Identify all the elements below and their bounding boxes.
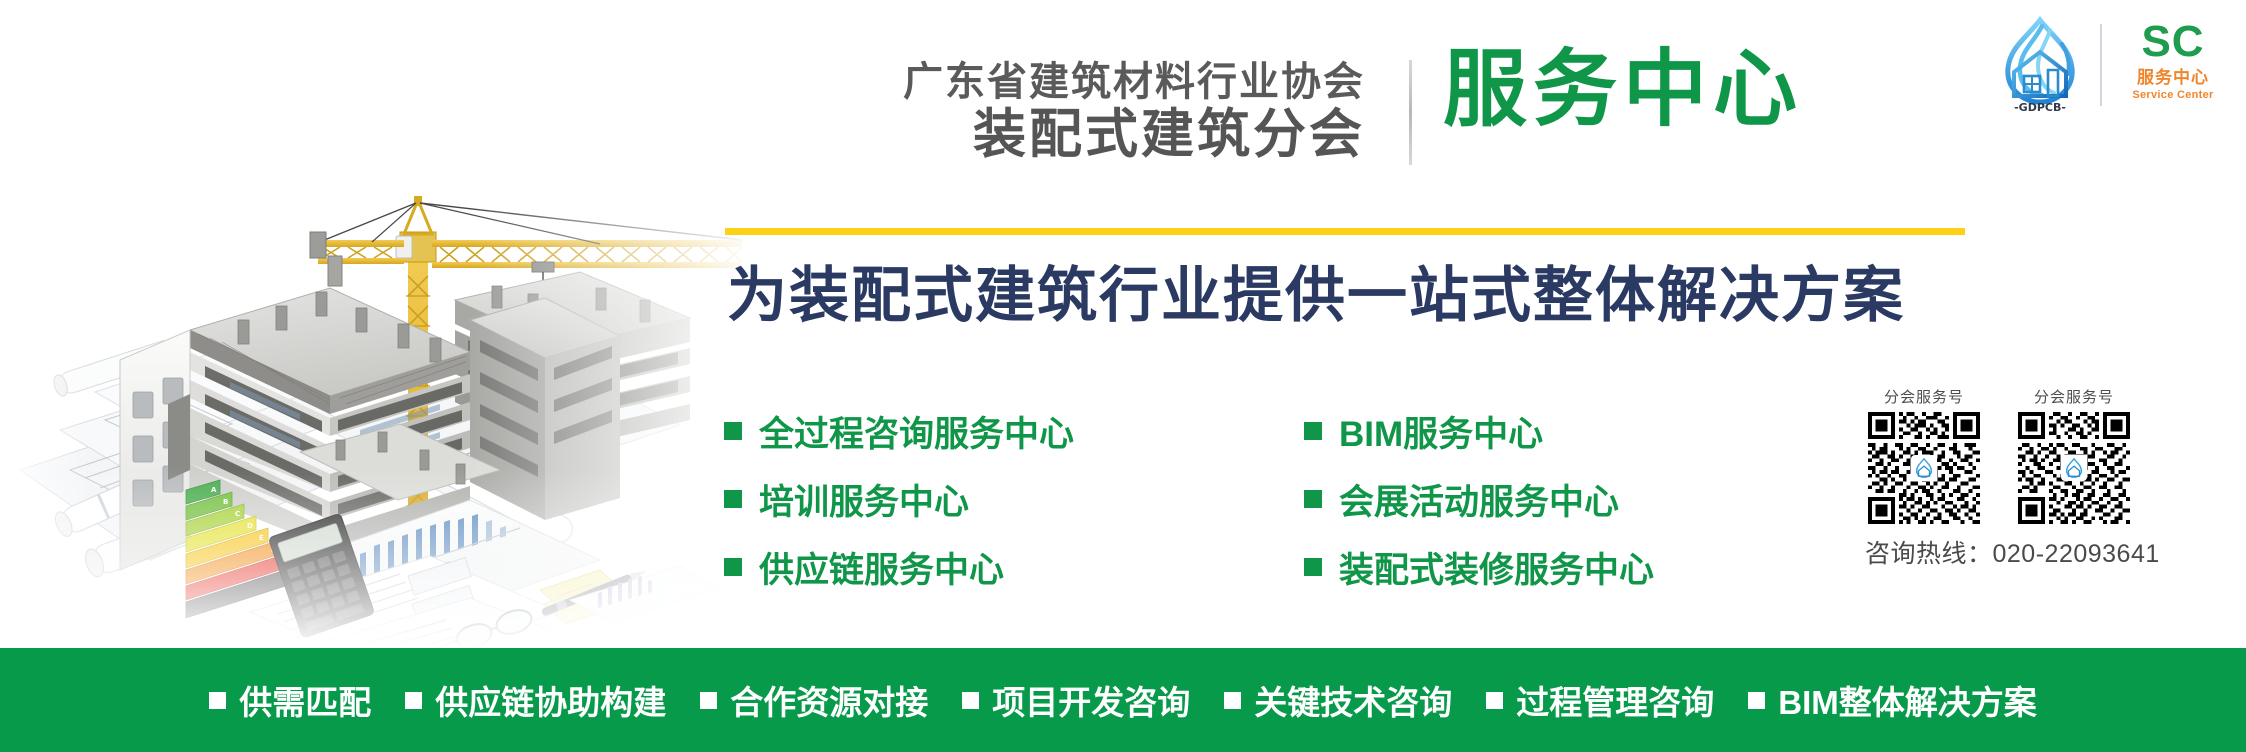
- square-bullet-icon: [1486, 692, 1503, 709]
- qr-section: 分会服务号: [1868, 386, 2208, 570]
- capability-label: BIM整体解决方案: [1778, 676, 2037, 724]
- square-bullet-icon: [1304, 422, 1322, 440]
- capability-item: 供应链协助构建: [405, 676, 666, 724]
- service-item: 装配式装修服务中心: [1304, 541, 1884, 593]
- sc-initials: SC: [2118, 20, 2228, 64]
- qr-item: 分会服务号: [1868, 386, 1980, 524]
- service-item: 会展活动服务中心: [1304, 473, 1884, 525]
- qr-item: 分会服务号: [2018, 386, 2130, 524]
- square-bullet-icon: [1304, 490, 1322, 508]
- service-item-label: BIM服务中心: [1339, 406, 1543, 457]
- square-bullet-icon: [405, 692, 422, 709]
- capability-item: 项目开发咨询: [962, 676, 1190, 724]
- capability-item: 合作资源对接: [700, 676, 928, 724]
- promo-banner: ABC DEF GH: [0, 0, 2246, 752]
- service-item-label: 全过程咨询服务中心: [759, 406, 1074, 457]
- qr-code-image[interactable]: [1868, 412, 1980, 524]
- svg-text:-GDPCB-: -GDPCB-: [2014, 101, 2066, 114]
- qr-embedded-logo-icon: [1911, 455, 1937, 481]
- capability-label: 过程管理咨询: [1516, 676, 1714, 724]
- capability-label: 项目开发咨询: [992, 676, 1190, 724]
- sc-english-label: Service Center: [2118, 89, 2228, 102]
- construction-illustration: ABC DEF GH: [0, 0, 760, 650]
- service-item-label: 会展活动服务中心: [1339, 474, 1619, 525]
- sc-wordmark: SC 服务中心 Service Center: [2118, 20, 2228, 103]
- square-bullet-icon: [209, 692, 226, 709]
- capability-item: BIM整体解决方案: [1748, 676, 2037, 724]
- service-item: 培训服务中心: [724, 473, 1304, 525]
- service-item: BIM服务中心: [1304, 405, 1884, 457]
- service-center-heading: 服务中心: [1443, 47, 1803, 131]
- sc-chinese-label: 服务中心: [2118, 68, 2228, 88]
- square-bullet-icon: [1304, 558, 1322, 576]
- qr-label: 分会服务号: [1868, 386, 1980, 407]
- service-item-label: 供应链服务中心: [759, 542, 1004, 593]
- banner-subtitle: 为装配式建筑行业提供一站式整体解决方案: [727, 258, 1905, 333]
- capability-item: 供需匹配: [209, 676, 371, 724]
- title-divider: [1409, 60, 1412, 165]
- hotline-text: 咨询热线：020-22093641: [1865, 534, 2208, 570]
- square-bullet-icon: [962, 692, 979, 709]
- capability-item: 关键技术咨询: [1224, 676, 1452, 724]
- capability-label: 供应链协助构建: [435, 676, 666, 724]
- service-item-label: 装配式装修服务中心: [1339, 542, 1654, 593]
- service-item: 供应链服务中心: [724, 541, 1304, 593]
- square-bullet-icon: [1224, 692, 1241, 709]
- square-bullet-icon: [700, 692, 717, 709]
- bottom-capability-bar: 供需匹配 供应链协助构建 合作资源对接 项目开发咨询 关键技术咨询 过程管理咨询…: [0, 648, 2246, 752]
- qr-code-image[interactable]: [2018, 412, 2130, 524]
- qr-label: 分会服务号: [2018, 386, 2130, 407]
- association-name-line1: 广东省建筑材料行业协会: [845, 62, 1365, 102]
- square-bullet-icon: [1748, 692, 1765, 709]
- service-list: 全过程咨询服务中心 BIM服务中心 培训服务中心 会展活动服务中心 供应链服务中…: [724, 405, 1884, 593]
- service-item-label: 培训服务中心: [759, 474, 969, 525]
- square-bullet-icon: [724, 490, 742, 508]
- square-bullet-icon: [724, 422, 742, 440]
- brand-logo: -GDPCB- SC 服务中心 Service Center: [1990, 14, 2228, 114]
- capability-label: 供需匹配: [239, 676, 371, 724]
- logo-divider: [2100, 24, 2102, 106]
- capability-label: 合作资源对接: [730, 676, 928, 724]
- capability-item: 过程管理咨询: [1486, 676, 1714, 724]
- gdpcb-logo-icon: -GDPCB-: [1990, 14, 2090, 114]
- association-name-line2: 装配式建筑分会: [845, 108, 1365, 161]
- square-bullet-icon: [724, 558, 742, 576]
- yellow-divider-rule: [725, 228, 1965, 235]
- qr-embedded-logo-icon: [2061, 455, 2087, 481]
- service-item: 全过程咨询服务中心: [724, 405, 1304, 457]
- association-title: 广东省建筑材料行业协会 装配式建筑分会: [845, 62, 1365, 161]
- capability-label: 关键技术咨询: [1254, 676, 1452, 724]
